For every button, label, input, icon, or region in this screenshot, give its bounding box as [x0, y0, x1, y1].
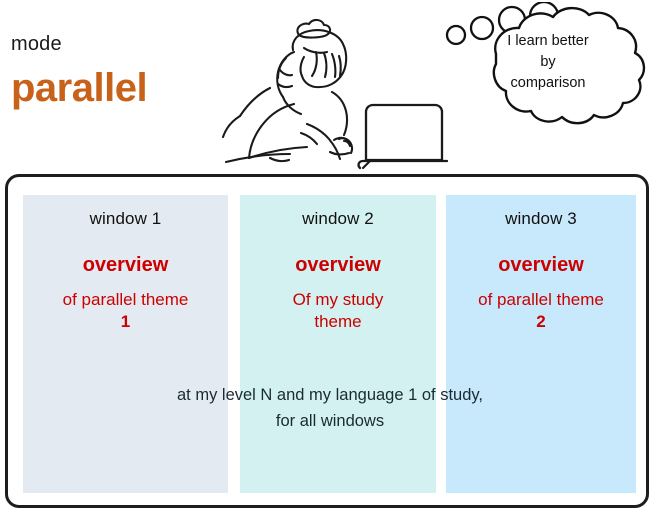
thought-bubble-line-3: comparison — [476, 73, 620, 94]
windows-columns: window 1 overview of parallel theme 1 wi… — [8, 177, 652, 511]
mode-value: parallel — [11, 68, 147, 108]
window-column-3[interactable]: window 3 overview of parallel theme 2 — [446, 195, 636, 493]
thought-bubble-line-1: I learn better — [476, 31, 620, 52]
window-2-heading: overview — [240, 253, 436, 277]
window-3-subtitle: of parallel theme 2 — [446, 289, 636, 332]
window-1-subtitle-line-2: 1 — [23, 311, 228, 332]
window-1-subtitle-line-1: of parallel theme — [63, 290, 189, 309]
window-column-1[interactable]: window 1 overview of parallel theme 1 — [23, 195, 228, 493]
person-thinking-at-laptop-icon — [208, 0, 448, 172]
mode-label: mode — [11, 34, 62, 54]
window-1-subtitle: of parallel theme 1 — [23, 289, 228, 332]
windows-panel: window 1 overview of parallel theme 1 wi… — [5, 174, 649, 508]
window-3-subtitle-line-1: of parallel theme — [478, 290, 604, 309]
window-3-subtitle-line-2: 2 — [446, 311, 636, 332]
window-1-heading: overview — [23, 253, 228, 277]
window-2-title: window 2 — [240, 209, 436, 229]
window-2-subtitle-line-1: Of my study — [293, 290, 384, 309]
header-zone: mode parallel — [0, 0, 656, 172]
window-3-heading: overview — [446, 253, 636, 277]
window-3-title: window 3 — [446, 209, 636, 229]
window-2-subtitle-line-2: theme — [240, 311, 436, 332]
window-column-2[interactable]: window 2 overview Of my study theme — [240, 195, 436, 493]
thought-bubble-line-2: by — [476, 52, 620, 73]
thought-bubble-text: I learn better by comparison — [476, 31, 620, 94]
window-2-subtitle: Of my study theme — [240, 289, 436, 332]
window-1-title: window 1 — [23, 209, 228, 229]
